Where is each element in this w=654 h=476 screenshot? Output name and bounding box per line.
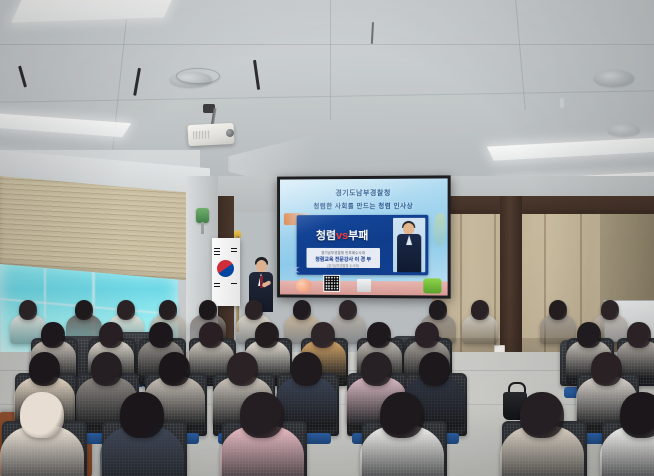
audience-head bbox=[91, 352, 123, 386]
audience-head bbox=[367, 322, 391, 348]
audience-head bbox=[199, 322, 223, 348]
audience-head bbox=[577, 322, 601, 348]
audience-head bbox=[339, 300, 358, 320]
audience-member bbox=[462, 300, 498, 350]
audience-member bbox=[500, 392, 584, 476]
audience-head bbox=[361, 352, 393, 386]
audience-member bbox=[220, 392, 304, 476]
audience-head bbox=[627, 322, 651, 348]
audience-head bbox=[240, 392, 284, 438]
audience-member bbox=[360, 392, 444, 476]
audience-head bbox=[41, 322, 65, 348]
audience-head bbox=[29, 352, 61, 386]
audience-head bbox=[380, 392, 424, 438]
audience-head bbox=[20, 392, 64, 438]
audience-head bbox=[19, 300, 38, 320]
audience-head bbox=[159, 300, 178, 320]
audience-head bbox=[471, 300, 490, 320]
audience-head bbox=[120, 392, 164, 438]
audience-head bbox=[419, 352, 451, 386]
audience-member bbox=[0, 392, 84, 476]
audience-head bbox=[429, 300, 448, 320]
lecture-hall-photo: 경기도남부경찰청 청렴한 사회를 만드는 청렴 인사상 청렴vs부패 경기남부경… bbox=[0, 0, 654, 476]
audience-head bbox=[149, 322, 173, 348]
audience-head bbox=[255, 322, 279, 348]
audience-head bbox=[75, 300, 94, 320]
audience-head bbox=[199, 300, 218, 320]
audience-head bbox=[520, 392, 564, 438]
audience-head bbox=[245, 300, 264, 320]
audience-head bbox=[601, 300, 620, 320]
audience-head bbox=[620, 392, 654, 438]
audience-head bbox=[159, 352, 191, 386]
audience-head bbox=[591, 352, 623, 386]
audience-head bbox=[293, 300, 312, 320]
audience-head bbox=[227, 352, 259, 386]
audience-head bbox=[291, 352, 323, 386]
audience-head bbox=[311, 322, 335, 348]
audience-head bbox=[415, 322, 439, 348]
audience-member bbox=[600, 392, 654, 476]
seated-audience bbox=[0, 0, 654, 476]
audience-head bbox=[99, 322, 123, 348]
audience-head bbox=[549, 300, 568, 320]
audience-head bbox=[117, 300, 136, 320]
audience-member bbox=[100, 392, 184, 476]
